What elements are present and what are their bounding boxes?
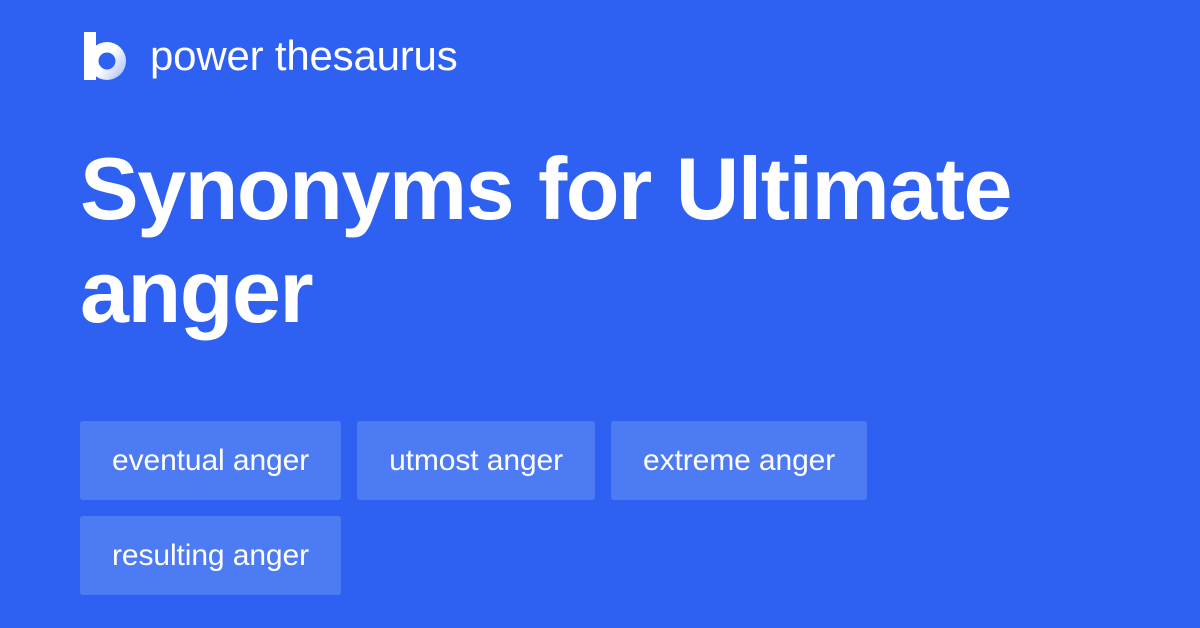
synonym-chip-list: eventual anger utmost anger extreme ange…	[80, 421, 1080, 595]
brand-logo[interactable]: power thesaurus	[80, 28, 458, 84]
synonym-chip[interactable]: eventual anger	[80, 421, 341, 500]
brand-name: power thesaurus	[150, 35, 458, 77]
synonym-chip[interactable]: extreme anger	[611, 421, 867, 500]
power-thesaurus-b-logo-icon	[80, 30, 128, 82]
synonym-chip[interactable]: utmost anger	[357, 421, 595, 500]
synonym-chip[interactable]: resulting anger	[80, 516, 341, 595]
share-card: power thesaurus Synonyms for Ultimate an…	[0, 0, 1200, 628]
page-title: Synonyms for Ultimate anger	[80, 138, 1040, 344]
